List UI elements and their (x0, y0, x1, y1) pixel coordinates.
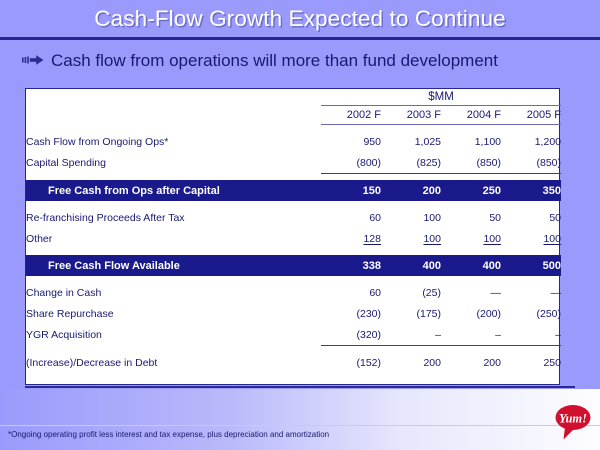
row-value: (25) (381, 282, 441, 303)
table-row: Re-franchising Proceeds After Tax 60 100… (26, 207, 561, 228)
logo-wordmark: Yum! (559, 412, 587, 426)
row-value: 250 (501, 352, 561, 373)
subtitle-row: Cash flow from operations will more than… (22, 47, 592, 73)
row-value: 60 (321, 282, 381, 303)
row-value: 128 (321, 228, 381, 249)
row-value: 1,200 (501, 131, 561, 152)
row-value: 250 (441, 180, 501, 201)
table-row: Capital Spending (800) (825) (850) (850) (26, 152, 561, 174)
table-row: Cash Flow from Ongoing Ops* 950 1,025 1,… (26, 131, 561, 152)
row-value: (850) (441, 152, 501, 174)
speech-bubble-icon: Yum! (552, 400, 594, 442)
row-value: 50 (501, 207, 561, 228)
row-value: 60 (321, 207, 381, 228)
row-value: 350 (501, 180, 561, 201)
cash-flow-table: $MM 2002 F 2003 F 2004 F 2005 F Cash Flo… (25, 88, 560, 385)
title-divider (0, 37, 600, 40)
row-value: – (501, 324, 561, 346)
header-spacer (26, 89, 321, 106)
row-value: 400 (441, 255, 501, 276)
row-label: YGR Acquisition (26, 324, 321, 346)
row-value: (152) (321, 352, 381, 373)
table-row: Other 128 100 100 100 (26, 228, 561, 249)
row-label: Capital Spending (26, 152, 321, 174)
row-value: (850) (501, 152, 561, 174)
row-value: – (381, 324, 441, 346)
row-value: (200) (441, 303, 501, 324)
table-row: (Increase)/Decrease in Debt (152) 200 20… (26, 352, 561, 373)
table-row: YGR Acquisition (320) – – – (26, 324, 561, 346)
units-header: $MM (321, 89, 561, 106)
row-value: 150 (321, 180, 381, 201)
row-value: (175) (381, 303, 441, 324)
page-title: Cash-Flow Growth Expected to Continue (94, 6, 505, 32)
row-value: 1,100 (441, 131, 501, 152)
row-value: 100 (381, 228, 441, 249)
table-row-highlight: Free Cash from Ops after Capital 150 200… (26, 180, 561, 201)
bottom-divider (25, 386, 575, 388)
row-value: 50 (441, 207, 501, 228)
row-value: — (441, 282, 501, 303)
row-value: 500 (501, 255, 561, 276)
row-value: (230) (321, 303, 381, 324)
header-label-blank (26, 106, 321, 125)
row-label: Free Cash from Ops after Capital (26, 180, 321, 201)
table-header-units-row: $MM (26, 89, 561, 106)
row-value: (825) (381, 152, 441, 174)
subtitle-text: Cash flow from operations will more than… (51, 52, 498, 69)
row-value: 338 (321, 255, 381, 276)
row-value: 200 (381, 352, 441, 373)
table-row-highlight: Free Cash Flow Available 338 400 400 500 (26, 255, 561, 276)
column-header-2003f: 2003 F (381, 106, 441, 125)
row-label: Cash Flow from Ongoing Ops* (26, 131, 321, 152)
row-value: (250) (501, 303, 561, 324)
yum-logo: Yum! (552, 400, 594, 442)
row-value: 100 (381, 207, 441, 228)
row-value: 200 (381, 180, 441, 201)
column-header-2005f: 2005 F (501, 106, 561, 125)
footnote-divider (0, 425, 600, 426)
row-value: (800) (321, 152, 381, 174)
row-value: 200 (441, 352, 501, 373)
column-header-2004f: 2004 F (441, 106, 501, 125)
row-label: Share Repurchase (26, 303, 321, 324)
row-value: 950 (321, 131, 381, 152)
row-value: 100 (441, 228, 501, 249)
row-value: (320) (321, 324, 381, 346)
row-value: — (501, 282, 561, 303)
row-value: 1,025 (381, 131, 441, 152)
row-value: – (441, 324, 501, 346)
column-header-2002f: 2002 F (321, 106, 381, 125)
slide: Cash-Flow Growth Expected to Continue Ca… (0, 0, 600, 450)
row-label: (Increase)/Decrease in Debt (26, 352, 321, 373)
row-label: Change in Cash (26, 282, 321, 303)
row-value: 400 (381, 255, 441, 276)
arrow-bullet-icon (22, 53, 44, 67)
row-label: Other (26, 228, 321, 249)
bottom-band (0, 389, 600, 450)
row-label: Free Cash Flow Available (26, 255, 321, 276)
row-label: Re-franchising Proceeds After Tax (26, 207, 321, 228)
table-header-years-row: 2002 F 2003 F 2004 F 2005 F (26, 106, 561, 125)
table-row: Share Repurchase (230) (175) (200) (250) (26, 303, 561, 324)
slide-title-bar: Cash-Flow Growth Expected to Continue (0, 0, 600, 37)
table-row: Change in Cash 60 (25) — — (26, 282, 561, 303)
footnote-text: *Ongoing operating profit less interest … (8, 430, 329, 439)
row-value: 100 (501, 228, 561, 249)
